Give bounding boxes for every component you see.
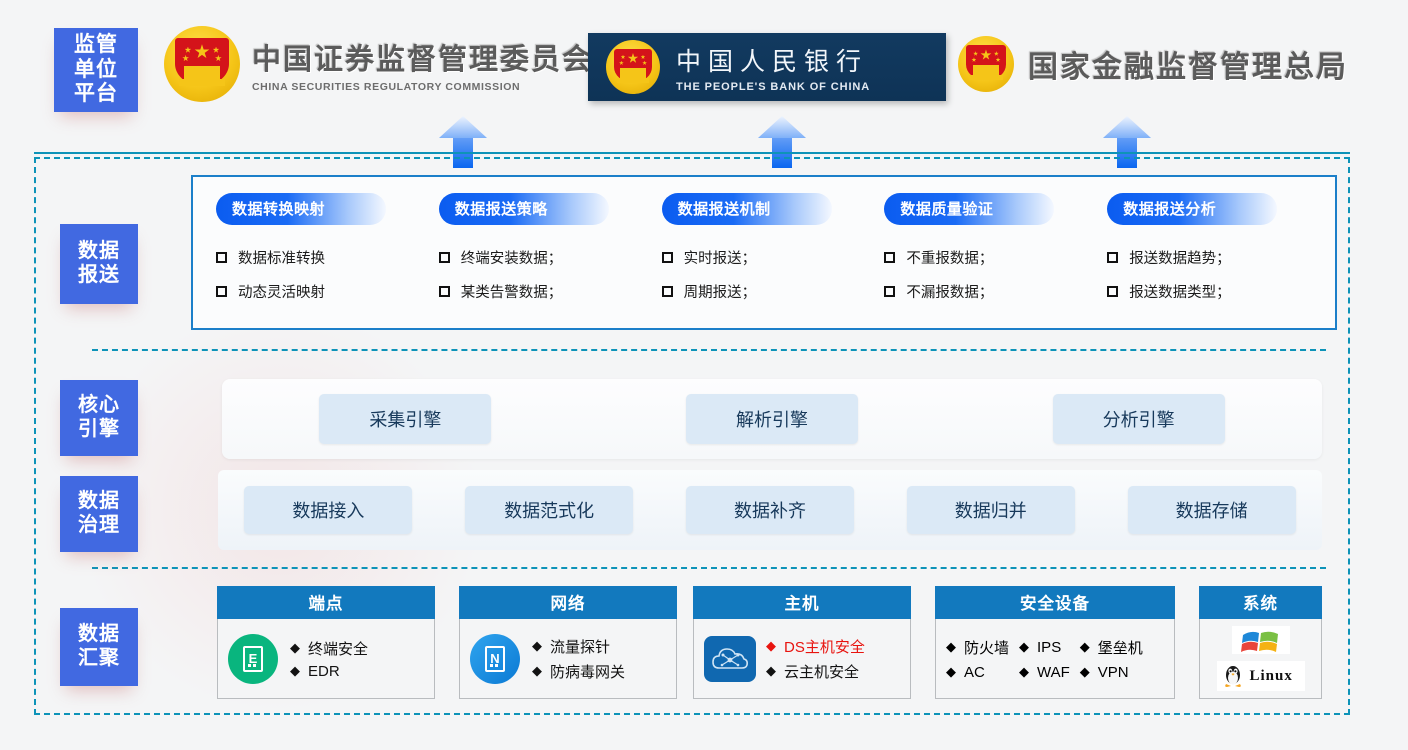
governance-box[interactable]: 数据归并: [907, 486, 1075, 534]
reporting-pill[interactable]: 数据报送分析: [1107, 193, 1277, 225]
card-item-label: AC: [964, 664, 985, 681]
row-label-line2: 治理: [78, 514, 120, 538]
core-engine-box[interactable]: 采集引擎: [319, 394, 491, 444]
card-title: 主机: [693, 586, 911, 619]
checklist-item: 某类告警数据；: [439, 281, 653, 302]
checklist-item: 终端安装数据；: [439, 247, 653, 268]
checkbox-icon[interactable]: [216, 252, 227, 263]
card-item: ◆ WAF: [1019, 664, 1070, 681]
section-divider: [92, 567, 1326, 569]
card-item-label: VPN: [1098, 664, 1129, 681]
card-item: ◆ VPN: [1080, 664, 1143, 681]
checklist-label: 报送数据类型；: [1129, 281, 1231, 302]
card-item-label: EDR: [308, 663, 340, 680]
diamond-bullet-icon: ◆: [1080, 639, 1090, 655]
aggregation-card-host: 主机 ◆ DS主机安全: [693, 586, 911, 699]
checkbox-icon[interactable]: [216, 286, 227, 297]
reporting-column: 数据转换映射 数据标准转换 动态灵活映射: [207, 193, 430, 328]
governance-box[interactable]: 数据补齐: [686, 486, 854, 534]
governance-box[interactable]: 数据接入: [244, 486, 412, 534]
core-engine-box[interactable]: 解析引擎: [686, 394, 858, 444]
logo-nfra: 国家金融监督管理总局: [958, 36, 1348, 92]
regulator-platform-label-l1: 监管: [74, 33, 118, 58]
card-item: ◆ IPS: [1019, 637, 1070, 658]
endpoint-e-icon: E: [228, 634, 278, 684]
card-item-label: 云主机安全: [784, 661, 859, 682]
row-label-line1: 核心: [78, 394, 120, 418]
card-item: ◆ 终端安全: [290, 638, 368, 659]
checkbox-icon[interactable]: [1107, 252, 1118, 263]
checklist-item: 动态灵活映射: [216, 281, 430, 302]
aggregation-card-system: 系统: [1199, 586, 1322, 699]
card-item: ◆ 云主机安全: [766, 661, 865, 682]
checkbox-icon[interactable]: [1107, 286, 1118, 297]
diamond-bullet-icon: ◆: [1019, 664, 1029, 680]
diamond-bullet-icon: ◆: [1080, 664, 1090, 680]
reporting-column: 数据报送机制 实时报送； 周期报送；: [653, 193, 876, 328]
checklist-item: 实时报送；: [662, 247, 876, 268]
checklist-item: 不漏报数据；: [884, 281, 1098, 302]
row-label-line1: 数据: [78, 623, 120, 647]
card-item-label: 堡垒机: [1098, 637, 1143, 658]
row-label-data-governance: 数据 治理: [60, 476, 138, 552]
linux-logo-icon: Linux: [1217, 661, 1305, 691]
card-item: ◆ 流量探针: [532, 636, 625, 657]
row-label-line2: 报送: [78, 264, 120, 288]
card-item-label: 流量探针: [550, 636, 610, 657]
row-label-core-engine: 核心 引擎: [60, 380, 138, 456]
logo-csrc-cn: 中国证券监督管理委员会: [252, 36, 593, 78]
regulator-platform-label: 监管 单位 平台: [54, 28, 138, 112]
checklist-label: 某类告警数据；: [461, 281, 563, 302]
reporting-pill[interactable]: 数据报送策略: [439, 193, 609, 225]
card-title: 网络: [459, 586, 677, 619]
national-emblem-icon: [164, 26, 240, 102]
regulator-platform-label-l3: 平台: [74, 82, 118, 107]
logo-pbc-en: THE PEOPLE'S BANK OF CHINA: [676, 81, 870, 93]
data-reporting-panel: 数据转换映射 数据标准转换 动态灵活映射 数据报送策略 终端安装数据；: [191, 175, 1337, 330]
diamond-bullet-icon: ◆: [1019, 639, 1029, 655]
platform-top-rule: [34, 152, 1350, 154]
checklist-label: 数据标准转换: [238, 247, 325, 268]
checkbox-icon[interactable]: [884, 286, 895, 297]
checkbox-icon[interactable]: [439, 286, 450, 297]
governance-box[interactable]: 数据存储: [1128, 486, 1296, 534]
logo-pbc: 中国人民银行 THE PEOPLE'S BANK OF CHINA: [588, 33, 946, 101]
windows-logo-icon: [1232, 626, 1290, 654]
logo-csrc: 中国证券监督管理委员会 CHINA SECURITIES REGULATORY …: [164, 26, 593, 102]
checklist-item: 报送数据趋势；: [1107, 247, 1321, 268]
card-item-label: WAF: [1037, 664, 1070, 681]
logo-nfra-cn: 国家金融监督管理总局: [1028, 42, 1348, 86]
row-label-line1: 数据: [78, 490, 120, 514]
data-governance-panel: 数据接入 数据范式化 数据补齐 数据归并 数据存储: [218, 470, 1322, 550]
reporting-pill[interactable]: 数据转换映射: [216, 193, 386, 225]
checkbox-icon[interactable]: [439, 252, 450, 263]
reporting-column: 数据报送策略 终端安装数据； 某类告警数据；: [430, 193, 653, 328]
card-item-label: 防病毒网关: [550, 661, 625, 682]
card-item-highlighted: ◆ DS主机安全: [766, 636, 865, 657]
card-item-label: 终端安全: [308, 638, 368, 659]
governance-box[interactable]: 数据范式化: [465, 486, 633, 534]
cloud-network-glyph: [710, 642, 750, 676]
diamond-bullet-icon: ◆: [946, 639, 956, 655]
card-title: 安全设备: [935, 586, 1175, 619]
core-engine-box[interactable]: 分析引擎: [1053, 394, 1225, 444]
card-item-label: 防火墙: [964, 637, 1009, 658]
network-n-icon: N: [470, 634, 520, 684]
checklist-item: 不重报数据；: [884, 247, 1098, 268]
reporting-column: 数据报送分析 报送数据趋势； 报送数据类型；: [1098, 193, 1321, 328]
card-title: 端点: [217, 586, 435, 619]
checkbox-icon[interactable]: [662, 286, 673, 297]
checklist-label: 动态灵活映射: [238, 281, 325, 302]
checkbox-icon[interactable]: [662, 252, 673, 263]
diamond-bullet-icon: ◆: [532, 638, 542, 654]
diamond-bullet-icon: ◆: [766, 663, 776, 679]
card-item-label: DS主机安全: [784, 636, 865, 657]
row-label-data-aggregation: 数据 汇聚: [60, 608, 138, 686]
diamond-bullet-icon: ◆: [946, 664, 956, 680]
card-item: ◆ 堡垒机: [1080, 637, 1143, 658]
checklist-label: 实时报送；: [684, 247, 757, 268]
diamond-bullet-icon: ◆: [532, 663, 542, 679]
card-item-label: IPS: [1037, 639, 1061, 656]
card-item: ◆ 防病毒网关: [532, 661, 625, 682]
row-label-line2: 引擎: [78, 418, 120, 442]
checklist-item: 数据标准转换: [216, 247, 430, 268]
checklist-label: 报送数据趋势；: [1129, 247, 1231, 268]
aggregation-card-network: 网络 N ◆ 流量探针 ◆ 防病毒网关: [459, 586, 677, 699]
card-item: ◆ 防火墙: [946, 637, 1009, 658]
checklist-label: 周期报送；: [684, 281, 757, 302]
card-item: ◆ AC: [946, 664, 1009, 681]
national-emblem-icon: [958, 36, 1014, 92]
diamond-bullet-icon: ◆: [290, 640, 300, 656]
linux-wordmark: Linux: [1250, 668, 1293, 685]
national-emblem-icon: [606, 40, 660, 94]
diamond-bullet-icon: ◆: [766, 638, 776, 654]
checklist-label: 终端安装数据；: [461, 247, 563, 268]
card-title: 系统: [1199, 586, 1322, 619]
logo-csrc-en: CHINA SECURITIES REGULATORY COMMISSION: [252, 81, 593, 93]
row-label-line2: 汇聚: [78, 647, 120, 671]
aggregation-card-endpoint: 端点 E ◆ 终端安全 ◆ EDR: [217, 586, 435, 699]
checkbox-icon[interactable]: [884, 252, 895, 263]
cloud-host-icon: [704, 636, 756, 682]
diamond-bullet-icon: ◆: [290, 663, 300, 679]
checklist-item: 周期报送；: [662, 281, 876, 302]
reporting-column: 数据质量验证 不重报数据； 不漏报数据；: [875, 193, 1098, 328]
checklist-label: 不重报数据；: [906, 247, 993, 268]
aggregation-card-security-devices: 安全设备 ◆ 防火墙 ◆ IPS ◆ 堡垒机 ◆ AC: [935, 586, 1175, 699]
regulator-platform-label-l2: 单位: [74, 58, 118, 83]
row-label-data-reporting: 数据 报送: [60, 224, 138, 304]
checklist-label: 不漏报数据；: [906, 281, 993, 302]
checklist-item: 报送数据类型；: [1107, 281, 1321, 302]
card-item: ◆ EDR: [290, 663, 368, 680]
architecture-diagram: 监管 单位 平台 中国证券监督管理委员会 CHINA SECURITIES RE…: [0, 0, 1408, 750]
reporting-pill[interactable]: 数据报送机制: [662, 193, 832, 225]
logo-pbc-cn: 中国人民银行: [676, 42, 870, 78]
core-engine-panel: 采集引擎 解析引擎 分析引擎: [222, 379, 1322, 459]
reporting-pill[interactable]: 数据质量验证: [884, 193, 1054, 225]
section-divider: [92, 349, 1326, 351]
row-label-line1: 数据: [78, 240, 120, 264]
